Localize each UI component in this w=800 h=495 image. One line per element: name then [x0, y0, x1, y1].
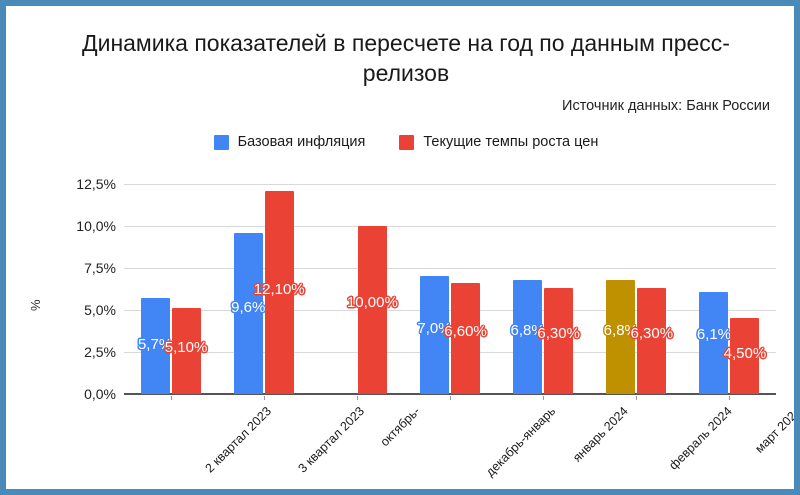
- bar-value-label: 9,6%: [231, 299, 265, 316]
- chart-screenshot: Динамика показателей в пересчете на год …: [0, 0, 800, 495]
- bar-value-label: 6,30%: [537, 325, 580, 342]
- bar-value-label: 4,50%: [724, 345, 767, 362]
- bar-value-label: 6,60%: [444, 323, 487, 340]
- x-tick-mark: [636, 396, 637, 400]
- plot-area: % 0,0%2,5%5,0%7,5%10,0%12,5% 5,7%5,10%9,…: [6, 6, 800, 495]
- x-tick-mark: [357, 396, 358, 400]
- bar-value-label: 5,10%: [165, 339, 208, 356]
- x-tick-mark: [264, 396, 265, 400]
- x-tick-mark: [171, 396, 172, 400]
- bar-value-label: 6,1%: [697, 326, 731, 343]
- bar-value-label: 6,30%: [631, 325, 674, 342]
- x-tick-mark: [450, 396, 451, 400]
- bar-value-label: 10,00%: [347, 294, 398, 311]
- x-tick-mark: [729, 396, 730, 400]
- bar-value-label: 12,10%: [254, 281, 305, 298]
- x-tick-mark: [543, 396, 544, 400]
